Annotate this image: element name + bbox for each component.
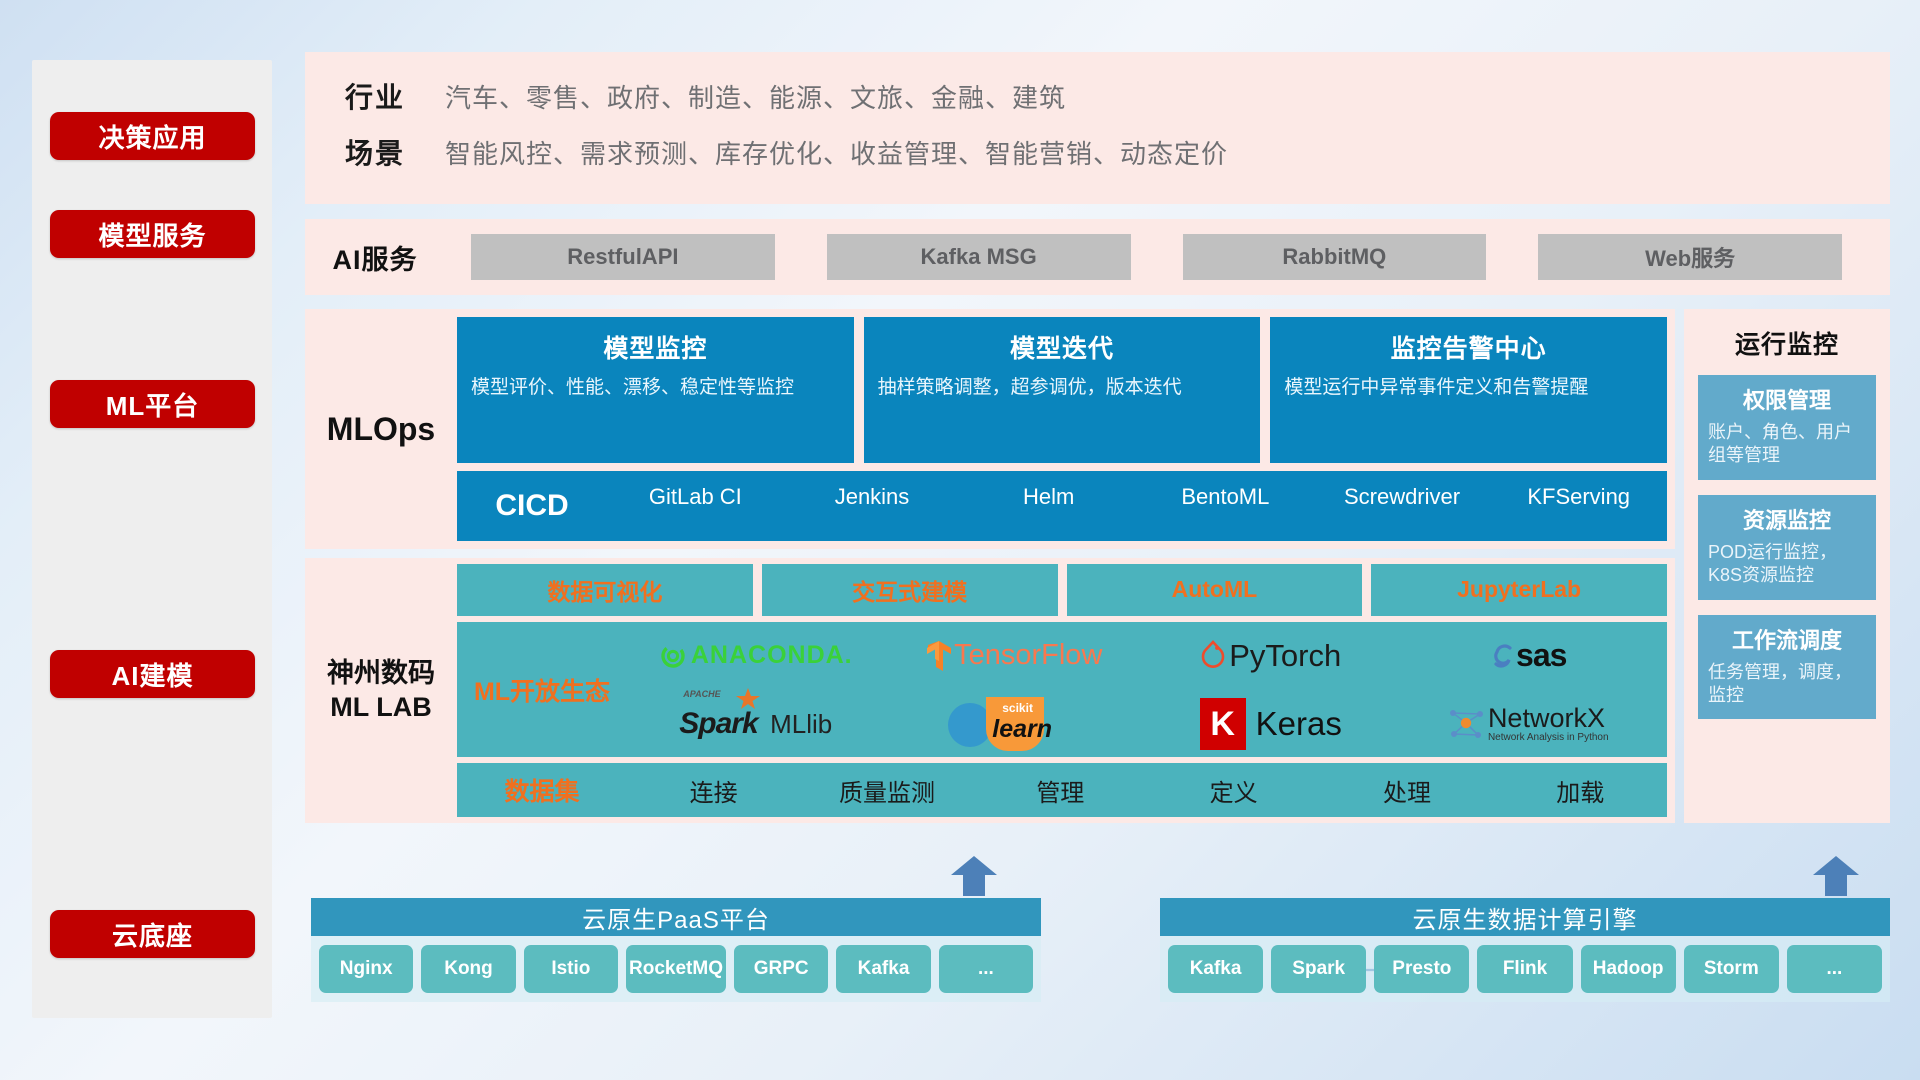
- ml-lab-body: 数据可视化 交互式建模 AutoML JupyterLab ML开放生态: [457, 564, 1675, 817]
- dataset-item-manage[interactable]: 管理: [974, 773, 1147, 808]
- runtime-monitor-title: 运行监控: [1698, 325, 1876, 361]
- networkx-subtitle: Network Analysis in Python: [1488, 732, 1609, 743]
- pytorch-logo-text: PyTorch: [1229, 638, 1341, 674]
- pytorch-logo: PyTorch: [1142, 638, 1400, 674]
- cicd-item-jenkins[interactable]: Jenkins: [784, 485, 961, 508]
- dataset-item-define[interactable]: 定义: [1147, 773, 1320, 808]
- data-chip-presto[interactable]: Presto: [1374, 945, 1469, 993]
- data-chip-more[interactable]: ...: [1787, 945, 1882, 993]
- ai-service-chip-web-service[interactable]: Web服务: [1538, 234, 1842, 280]
- ml-ecosystem-logo-row-2: APACHE Spark MLlib: [627, 690, 1657, 758]
- rail-item-ai-modeling[interactable]: AI建模: [50, 650, 255, 698]
- anaconda-icon: [659, 642, 687, 670]
- ml-ecosystem-row: ML开放生态 ANACONDA.: [457, 622, 1667, 758]
- networkx-logo: NetworkX Network Analysis in Python: [1400, 705, 1658, 743]
- rail-item-decision-app[interactable]: 决策应用: [50, 112, 255, 160]
- card-desc: 模型运行中异常事件定义和告警提醒: [1284, 375, 1653, 401]
- dataset-item-quality[interactable]: 质量监测: [800, 773, 973, 808]
- mlops-body: 模型监控 模型评价、性能、漂移、稳定性等监控 模型迭代 抽样策略调整，超参调优，…: [457, 317, 1675, 541]
- card-desc: 任务管理，调度，监控: [1708, 661, 1866, 708]
- cloud-chip-more[interactable]: ...: [939, 945, 1033, 993]
- mllib-logo-text: MLlib: [770, 709, 832, 739]
- anaconda-logo: ANACONDA.: [627, 641, 885, 670]
- ai-service-chip-restfulapi[interactable]: RestfulAPI: [471, 234, 775, 280]
- ml-tool-chip-group: 数据可视化 交互式建模 AutoML JupyterLab: [457, 564, 1667, 616]
- card-desc: 账户、角色、用户组等管理: [1708, 421, 1866, 468]
- apache-label: APACHE: [683, 689, 720, 699]
- arrow-up-data-engine-icon: [1813, 856, 1859, 896]
- spark-logo-text: Spark: [679, 707, 757, 740]
- card-title: 资源监控: [1708, 503, 1866, 535]
- dataset-title: 数据集: [457, 772, 627, 808]
- card-title: 工作流调度: [1708, 623, 1866, 655]
- cicd-item-bentoml[interactable]: BentoML: [1137, 485, 1314, 508]
- tool-chip-data-visualization[interactable]: 数据可视化: [457, 564, 753, 616]
- ml-lab-label-line2: ML LAB: [330, 692, 432, 722]
- mlops-panel: MLOps 模型监控 模型评价、性能、漂移、稳定性等监控 模型迭代 抽样策略调整…: [305, 309, 1675, 549]
- dataset-item-process[interactable]: 处理: [1320, 773, 1493, 808]
- monitor-card-permission[interactable]: 权限管理 账户、角色、用户组等管理: [1698, 375, 1876, 480]
- industry-list: 汽车、零售、政府、制造、能源、文旅、金融、建筑: [445, 78, 1066, 115]
- mlops-card-model-iteration[interactable]: 模型迭代 抽样策略调整，超参调优，版本迭代: [864, 317, 1261, 463]
- rail-item-ml-platform[interactable]: ML平台: [50, 380, 255, 428]
- keras-k-icon: K: [1200, 698, 1246, 750]
- ai-modeling-band: 神州数码 ML LAB 数据可视化 交互式建模 AutoML JupyterLa…: [305, 558, 1890, 823]
- cloud-chip-kafka[interactable]: Kafka: [836, 945, 930, 993]
- cloud-chip-rocketmq[interactable]: RocketMQ: [626, 945, 726, 993]
- card-title: 权限管理: [1708, 383, 1866, 415]
- ml-ecosystem-logo-row-1: ANACONDA. TensorFlow: [627, 622, 1657, 690]
- data-chip-spark[interactable]: Spark: [1271, 945, 1366, 993]
- rail-item-cloud-base[interactable]: 云底座: [50, 910, 255, 958]
- tensorflow-icon: [924, 639, 954, 673]
- cicd-item-screwdriver[interactable]: Screwdriver: [1314, 485, 1491, 508]
- tensorflow-logo: TensorFlow: [885, 639, 1143, 673]
- dataset-item-load[interactable]: 加载: [1494, 773, 1667, 808]
- card-title: 模型监控: [471, 329, 840, 365]
- cicd-bar: CICD GitLab CI Jenkins Helm BentoML Scre…: [457, 471, 1667, 541]
- industry-label: 行业: [305, 76, 445, 116]
- ml-lab-label-line1: 神州数码: [327, 658, 435, 688]
- card-desc: POD运行监控，K8S资源监控: [1708, 541, 1866, 588]
- ml-ecosystem-label: ML开放生态: [457, 672, 627, 708]
- ml-lab-label: 神州数码 ML LAB: [305, 564, 457, 817]
- architecture-diagram: 决策应用 模型服务 ML平台 AI建模 云底座 行业 汽车、零售、政府、制造、能…: [0, 0, 1920, 1080]
- pytorch-icon: [1200, 640, 1226, 672]
- mlops-card-group: 模型监控 模型评价、性能、漂移、稳定性等监控 模型迭代 抽样策略调整，超参调优，…: [457, 317, 1667, 463]
- ml-platform-band: MLOps 模型监控 模型评价、性能、漂移、稳定性等监控 模型迭代 抽样策略调整…: [305, 309, 1890, 549]
- monitor-card-resource[interactable]: 资源监控 POD运行监控，K8S资源监控: [1698, 495, 1876, 600]
- ai-service-chip-rabbitmq[interactable]: RabbitMQ: [1183, 234, 1487, 280]
- cloud-data-engine-title: 云原生数据计算引擎: [1160, 898, 1890, 936]
- ai-service-chip-group: RestfulAPI Kafka MSG RabbitMQ Web服务: [445, 234, 1890, 280]
- business-row-scenario: 场景 智能风控、需求预测、库存优化、收益管理、智能营销、动态定价: [305, 124, 1890, 180]
- tensorflow-logo-text: TensorFlow: [954, 639, 1102, 672]
- cicd-title: CICD: [457, 489, 607, 523]
- dataset-row: 数据集 连接 质量监测 管理 定义 处理 加载: [457, 763, 1667, 817]
- cloud-paas-title: 云原生PaaS平台: [311, 898, 1041, 936]
- cloud-chip-kong[interactable]: Kong: [421, 945, 515, 993]
- networkx-graph-icon: [1448, 707, 1484, 741]
- dataset-item-connect[interactable]: 连接: [627, 773, 800, 808]
- cloud-chip-grpc[interactable]: GRPC: [734, 945, 828, 993]
- ai-service-label: AI服务: [305, 238, 445, 277]
- networkx-logo-text: NetworkX: [1488, 705, 1609, 732]
- monitor-card-workflow[interactable]: 工作流调度 任务管理，调度，监控: [1698, 615, 1876, 720]
- keras-logo: K Keras: [1142, 698, 1400, 750]
- cicd-item-gitlab-ci[interactable]: GitLab CI: [607, 485, 784, 508]
- business-row-industry: 行业 汽车、零售、政府、制造、能源、文旅、金融、建筑: [305, 68, 1890, 124]
- sas-logo-text: sas: [1516, 637, 1566, 674]
- mlops-card-model-monitoring[interactable]: 模型监控 模型评价、性能、漂移、稳定性等监控: [457, 317, 854, 463]
- apache-spark-mllib-logo: APACHE Spark MLlib: [627, 707, 885, 741]
- cloud-paas-chip-group: Nginx Kong Istio RocketMQ GRPC Kafka ...: [311, 936, 1041, 1002]
- card-title: 模型迭代: [878, 329, 1247, 365]
- anaconda-logo-text: ANACONDA.: [691, 641, 853, 670]
- data-chip-flink[interactable]: Flink: [1477, 945, 1572, 993]
- ml-lab-panel: 神州数码 ML LAB 数据可视化 交互式建模 AutoML JupyterLa…: [305, 558, 1675, 823]
- tool-chip-jupyterlab[interactable]: JupyterLab: [1371, 564, 1667, 616]
- business-band: 行业 汽车、零售、政府、制造、能源、文旅、金融、建筑 场景 智能风控、需求预测、…: [305, 52, 1890, 204]
- left-layer-rail: 决策应用 模型服务 ML平台 AI建模 云底座: [32, 60, 272, 1018]
- card-desc: 模型评价、性能、漂移、稳定性等监控: [471, 375, 840, 401]
- main-column: 行业 汽车、零售、政府、制造、能源、文旅、金融、建筑 场景 智能风控、需求预测、…: [305, 52, 1890, 823]
- data-chip-storm[interactable]: Storm: [1684, 945, 1779, 993]
- scenario-list: 智能风控、需求预测、库存优化、收益管理、智能营销、动态定价: [445, 134, 1228, 171]
- cloud-data-engine-group: 云原生数据计算引擎 Kafka Spark Presto Flink Hadoo…: [1160, 898, 1890, 1002]
- keras-logo-text: Keras: [1256, 705, 1342, 743]
- mlops-card-alert-center[interactable]: 监控告警中心 模型运行中异常事件定义和告警提醒: [1270, 317, 1667, 463]
- spark-star-icon: [735, 687, 761, 711]
- scikit-text: scikit: [1002, 701, 1033, 715]
- learn-text: learn: [992, 715, 1052, 744]
- cloud-foundation-area: 云原生PaaS平台 Nginx Kong Istio RocketMQ GRPC…: [305, 880, 1890, 1040]
- ml-ecosystem-logo-grid: ANACONDA. TensorFlow: [627, 622, 1667, 758]
- data-chip-kafka[interactable]: Kafka: [1168, 945, 1263, 993]
- cloud-chip-nginx[interactable]: Nginx: [319, 945, 413, 993]
- tool-chip-interactive-modeling[interactable]: 交互式建模: [762, 564, 1058, 616]
- cicd-item-helm[interactable]: Helm: [960, 485, 1137, 508]
- scikit-learn-logo: scikit learn: [885, 695, 1143, 753]
- ai-service-band: AI服务 RestfulAPI Kafka MSG RabbitMQ Web服务: [305, 219, 1890, 295]
- cloud-paas-group: 云原生PaaS平台 Nginx Kong Istio RocketMQ GRPC…: [311, 898, 1041, 1002]
- cloud-chip-istio[interactable]: Istio: [524, 945, 618, 993]
- card-title: 监控告警中心: [1284, 329, 1653, 365]
- data-chip-hadoop[interactable]: Hadoop: [1581, 945, 1676, 993]
- runtime-monitor-rail: 运行监控 权限管理 账户、角色、用户组等管理 资源监控 POD运行监控，K8S资…: [1684, 309, 1890, 823]
- sas-logo: sas: [1400, 637, 1658, 674]
- sas-icon: [1490, 641, 1516, 671]
- tool-chip-automl[interactable]: AutoML: [1067, 564, 1363, 616]
- ai-service-chip-kafka-msg[interactable]: Kafka MSG: [827, 234, 1131, 280]
- scenario-label: 场景: [305, 132, 445, 172]
- mlops-label: MLOps: [305, 317, 457, 541]
- cicd-item-kfserving[interactable]: KFServing: [1490, 485, 1667, 508]
- cloud-data-engine-chip-group: Kafka Spark Presto Flink Hadoop Storm ..…: [1160, 936, 1890, 1002]
- rail-item-model-service[interactable]: 模型服务: [50, 210, 255, 258]
- card-desc: 抽样策略调整，超参调优，版本迭代: [878, 375, 1247, 401]
- arrow-up-paas-icon: [951, 856, 997, 896]
